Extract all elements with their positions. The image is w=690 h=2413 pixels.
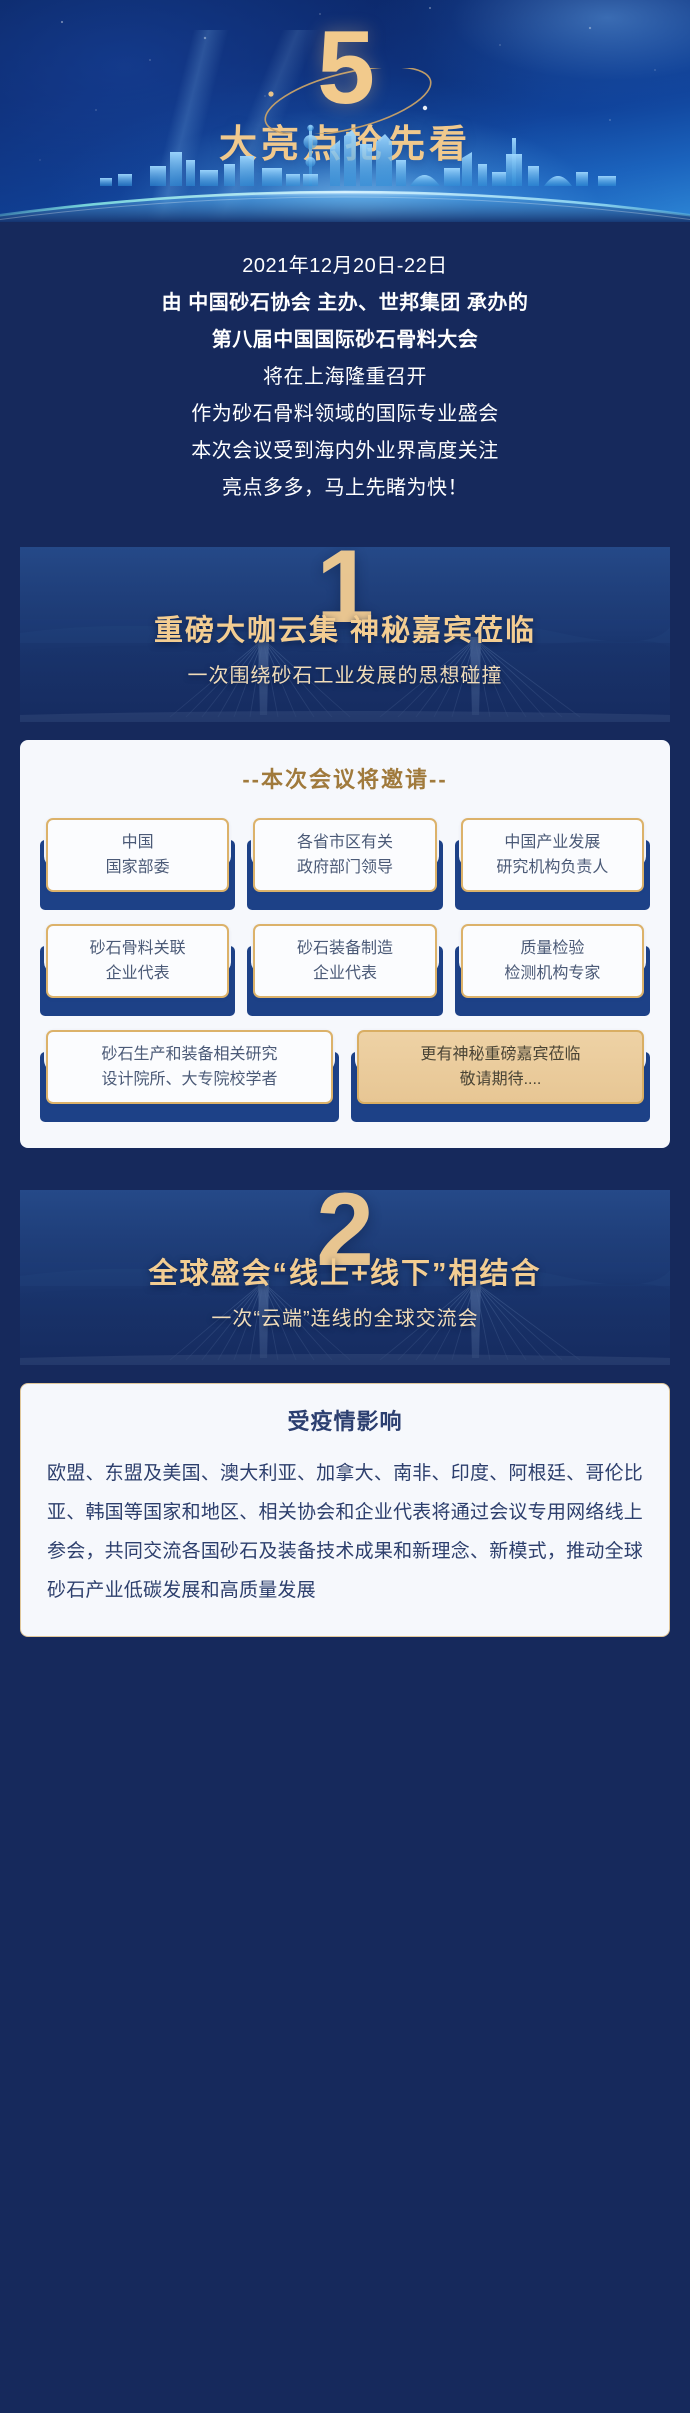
section-2-title: 全球盛会“线上+线下”相结合	[20, 1254, 670, 1294]
invitee-card: 砂石装备制造 企业代表	[253, 924, 436, 998]
invitee-card: 中国产业发展 研究机构负责人	[461, 818, 644, 892]
section-1: 1 重磅大咖云集 神秘嘉宾莅临 一次围绕砂石工业发展的思想碰撞 --本次会议将邀…	[0, 547, 690, 1148]
intro-line-positioning: 作为砂石骨料领域的国际专业盛会	[20, 396, 670, 433]
hero-number: 5	[317, 18, 373, 118]
invitee-grid: 中国 国家部委 各省市区有关 政府部门领导	[40, 818, 650, 1122]
hero-subtitle: 大亮点抢先看	[0, 122, 690, 168]
intro-line-organizers: 由 中国砂石协会 主办、世邦集团 承办的	[20, 285, 670, 322]
mystery-guest-card: 更有神秘重磅嘉宾莅临 敬请期待....	[357, 1030, 644, 1104]
invitee-cell: 中国产业发展 研究机构负责人	[455, 818, 650, 910]
invitee-envelope: 砂石骨料关联 企业代表	[40, 924, 235, 1016]
section-2-banner: 2 全球盛会“线上+线下”相结合 一次“云端”连线的全球交流会	[20, 1190, 670, 1365]
invitee-envelope: 质量检验 检测机构专家	[455, 924, 650, 1016]
invitee-panel-heading: --本次会议将邀请--	[40, 764, 650, 796]
section-spacer	[0, 1148, 690, 1190]
invitee-envelope: 中国产业发展 研究机构负责人	[455, 818, 650, 910]
hero-banner: 5 大亮点抢先看	[0, 0, 690, 222]
invitee-label: 中国产业发展 研究机构负责人	[490, 830, 614, 880]
intro-line-date: 2021年12月20日-22日	[20, 248, 670, 285]
invitee-cell: 砂石生产和装备相关研究 设计院所、大专院校学者	[40, 1030, 339, 1122]
invitee-cell: 质量检验 检测机构专家	[455, 924, 650, 1016]
intro-line-venue: 将在上海隆重召开	[20, 359, 670, 396]
invitee-label: 各省市区有关 政府部门领导	[291, 830, 399, 880]
intro-block: 2021年12月20日-22日 由 中国砂石协会 主办、世邦集团 承办的 第八届…	[0, 222, 690, 547]
invitee-card: 各省市区有关 政府部门领导	[253, 818, 436, 892]
invitee-card: 砂石骨料关联 企业代表	[46, 924, 229, 998]
invitee-envelope: 砂石生产和装备相关研究 设计院所、大专院校学者	[40, 1030, 339, 1122]
invitee-card: 质量检验 检测机构专家	[461, 924, 644, 998]
pandemic-paragraph: 欧盟、东盟及美国、澳大利亚、加拿大、南非、印度、阿根廷、哥伦比亚、韩国等国家和地…	[47, 1454, 643, 1610]
infographic-page: 5 大亮点抢先看	[0, 0, 690, 2413]
hero-number-block: 5	[0, 16, 690, 120]
section-1-title: 重磅大咖云集 神秘嘉宾莅临	[20, 611, 670, 651]
intro-line-event-name: 第八届中国国际砂石骨料大会	[20, 322, 670, 359]
invitee-label: 砂石装备制造 企业代表	[291, 936, 399, 986]
invitee-cell: 各省市区有关 政府部门领导	[247, 818, 442, 910]
invitee-cell: 中国 国家部委	[40, 818, 235, 910]
invitee-cell: 砂石骨料关联 企业代表	[40, 924, 235, 1016]
invitee-envelope: 砂石装备制造 企业代表	[247, 924, 442, 1016]
invitee-cell: 砂石装备制造 企业代表	[247, 924, 442, 1016]
section-2: 2 全球盛会“线上+线下”相结合 一次“云端”连线的全球交流会 受疫情影响 欧盟…	[0, 1190, 690, 1637]
intro-line-attention: 本次会议受到海内外业界高度关注	[20, 433, 670, 470]
pandemic-heading: 受疫情影响	[47, 1406, 643, 1438]
invitee-card: 中国 国家部委	[46, 818, 229, 892]
invitee-card: 砂石生产和装备相关研究 设计院所、大专院校学者	[46, 1030, 333, 1104]
invitee-label: 中国 国家部委	[100, 830, 176, 880]
invitee-label: 砂石骨料关联 企业代表	[84, 936, 192, 986]
section-1-panel: --本次会议将邀请-- 中国 国家部委 各省市区有关 政府部门领导	[20, 740, 670, 1148]
invitee-label: 砂石生产和装备相关研究 设计院所、大专院校学者	[95, 1042, 283, 1092]
section-2-subtitle: 一次“云端”连线的全球交流会	[20, 1304, 670, 1334]
intro-line-teaser: 亮点多多，马上先睹为快！	[20, 470, 670, 507]
mystery-guest-envelope: 更有神秘重磅嘉宾莅临 敬请期待....	[351, 1030, 650, 1122]
section-1-banner: 1 重磅大咖云集 神秘嘉宾莅临 一次围绕砂石工业发展的思想碰撞	[20, 547, 670, 722]
invitee-label: 质量检验 检测机构专家	[498, 936, 606, 986]
invitee-cell: 更有神秘重磅嘉宾莅临 敬请期待....	[351, 1030, 650, 1122]
bottom-spacer	[0, 1637, 690, 1665]
section-2-panel: 受疫情影响 欧盟、东盟及美国、澳大利亚、加拿大、南非、印度、阿根廷、哥伦比亚、韩…	[20, 1383, 670, 1637]
invitee-envelope: 各省市区有关 政府部门领导	[247, 818, 442, 910]
invitee-envelope: 中国 国家部委	[40, 818, 235, 910]
section-1-subtitle: 一次围绕砂石工业发展的思想碰撞	[20, 661, 670, 691]
mystery-guest-label: 更有神秘重磅嘉宾莅临 敬请期待....	[414, 1042, 586, 1092]
